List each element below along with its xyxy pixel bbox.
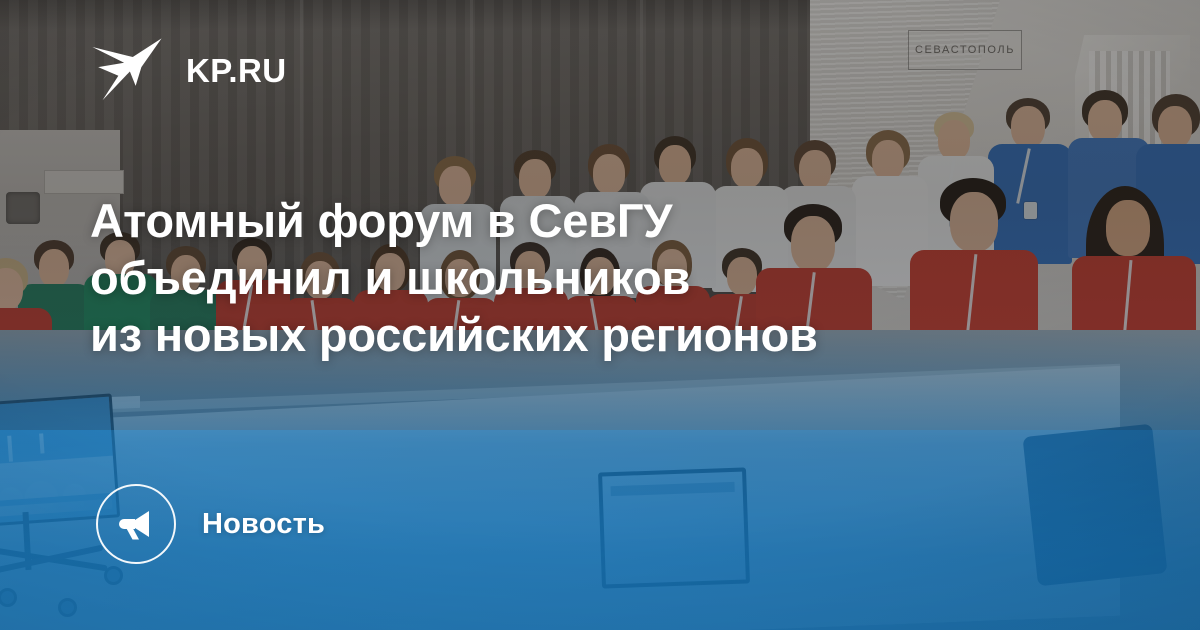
social-share-card: СЕВАСТОПОЛЬ: [0, 0, 1200, 630]
category-badge[interactable]: Новость: [96, 484, 325, 564]
swallow-bird-icon: [90, 34, 164, 106]
headline-line-2: объединил и школьников: [90, 249, 1110, 306]
brand-logo[interactable]: KP.RU: [90, 34, 286, 106]
megaphone-icon: [96, 484, 176, 564]
headline-line-1: Атомный форум в СевГУ: [90, 192, 1110, 249]
page-title: Атомный форум в СевГУ объединил и школьн…: [90, 192, 1110, 363]
category-badge-label: Новость: [202, 508, 325, 541]
foreground-content: KP.RU Атомный форум в СевГУ объединил и …: [0, 0, 1200, 630]
headline-line-3: из новых российских регионов: [90, 306, 1110, 363]
brand-name: KP.RU: [186, 54, 286, 87]
